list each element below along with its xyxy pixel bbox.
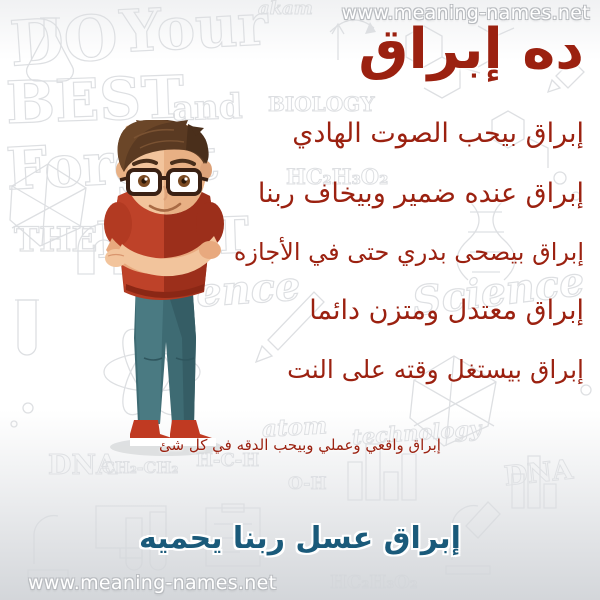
trait-line-list: إبراق بيحب الصوت الهادي إبراق عنده ضمير …: [24, 120, 584, 415]
trait-line: إبراق عنده ضمير وبيخاف ربنا: [24, 180, 584, 207]
doodle-word-do: DO: [8, 0, 121, 80]
name-meaning-card: DO Your BEST and Forget THE REST ence Sc…: [0, 0, 600, 600]
trait-line: إبراق بيصحى بدري حتى في الأجازه: [24, 240, 584, 264]
trait-line: إبراق بيستغل وقته على النت: [24, 357, 584, 382]
doodle-formula-ch2: CH₂-CH₂: [102, 458, 178, 477]
trait-line-small: إبراق واقعي وعملي وبيحب الدقه في كل شئ: [0, 436, 600, 454]
doodle-word-akam: akam: [258, 0, 313, 19]
doodle-word-biology: BIOLOGY: [268, 92, 375, 116]
trait-line: إبراق بيحب الصوت الهادي: [24, 120, 584, 147]
doodle-formula-oh: O-H: [288, 474, 327, 494]
doodle-formula-acetic-bottom: HC₂H₃O₂: [330, 572, 418, 593]
footer-blessing: إبراق عسل ربنا يحميه: [0, 521, 600, 556]
doodle-word-dna-right: DNA: [503, 454, 575, 492]
page-title: ده إبراق: [358, 18, 584, 82]
trait-line: إبراق معتدل ومتزن دائما: [24, 297, 584, 324]
doodle-word-your: Your: [118, 0, 269, 66]
watermark-bottom: www.meaning-names.net: [28, 572, 276, 594]
